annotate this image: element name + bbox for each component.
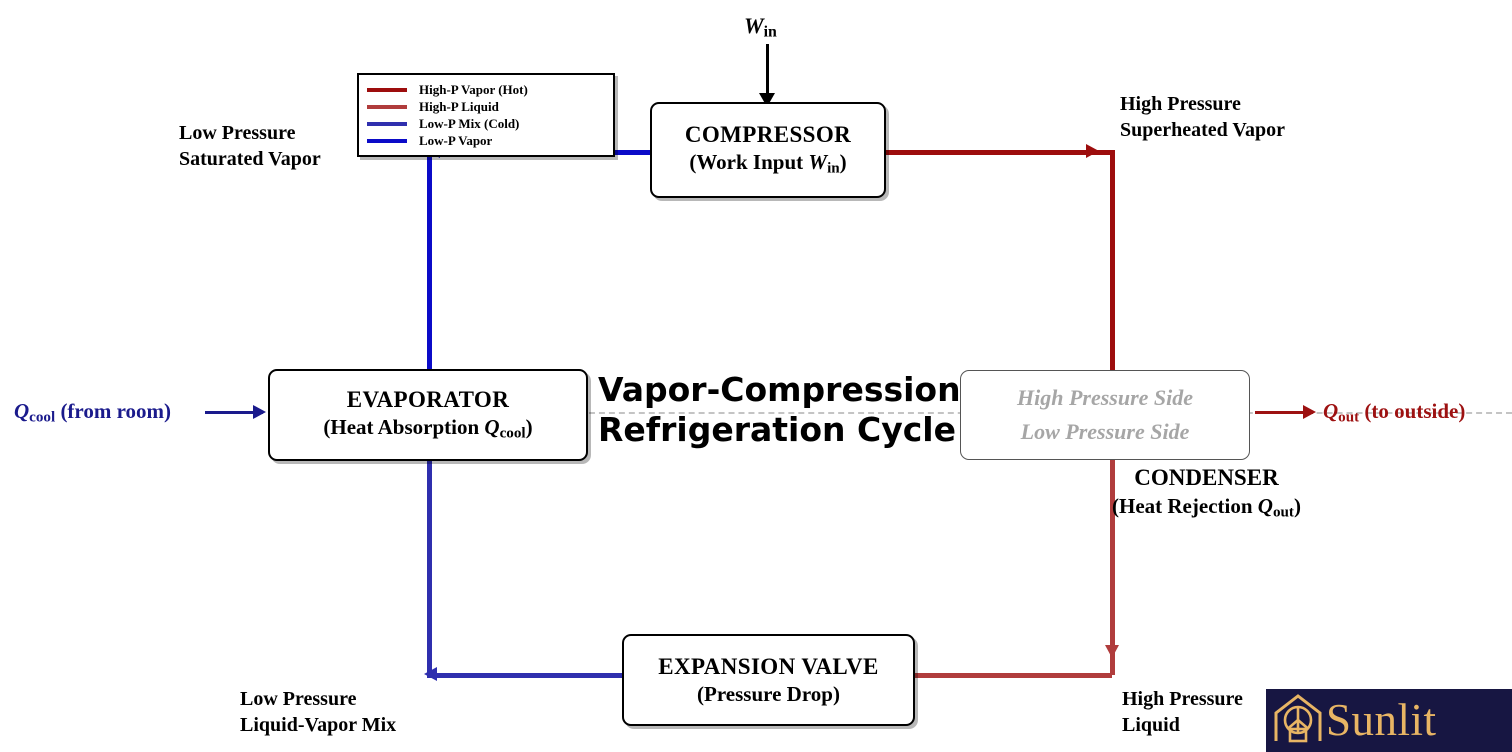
work-input-symbol: W [744,13,764,38]
legend-label-low-p-vapor: Low-P Vapor [419,133,492,149]
legend-item: Low-P Vapor [367,132,603,149]
condenser-sub-suffix: ) [1294,494,1301,518]
page-title-line1: Vapor-Compression [598,370,943,410]
evaporator-subtitle: (Heat Absorption Qcool) [323,415,532,443]
q-cool-note: (from room) [55,399,171,423]
legend-label-high-p-vapor: High-P Vapor (Hot) [419,82,528,98]
q-out-subscript: out [1338,409,1359,425]
compressor-sub-subscript: in [827,160,840,176]
arrowhead-high-pressure-liquid [1105,645,1119,658]
compressor-title: COMPRESSOR [685,122,851,148]
compressor-sub-prefix: (Work Input [689,150,808,174]
condenser-sub-prefix: (Heat Rejection [1112,494,1258,518]
condenser-title: CONDENSER [1112,463,1301,493]
sunlit-logo: Sunlit [1266,689,1512,752]
page-title: Vapor-Compression Refrigeration Cycle [598,370,943,451]
legend-box: High-P Vapor (Hot) High-P Liquid Low-P M… [357,73,615,157]
pipe-evaporator-to-compressor-vertical [427,152,432,370]
expansion-valve-title: EXPANSION VALVE [658,654,879,680]
evaporator-sub-symbol: Q [484,415,499,439]
legend-item: Low-P Mix (Cold) [367,115,603,132]
condenser-sub-symbol: Q [1258,494,1273,518]
expansion-valve-subtitle: (Pressure Drop) [697,682,840,706]
legend-label-high-p-liquid: High-P Liquid [419,99,499,115]
component-box-evaporator[interactable]: EVAPORATOR (Heat Absorption Qcool) [268,369,588,461]
house-peace-icon [1272,693,1324,748]
flow-label-top-left-line1: Low Pressure [179,121,321,147]
work-input-label: Win [744,12,777,43]
arrowhead-low-pressure-mix [424,667,437,681]
flow-label-top-right: High Pressure Superheated Vapor [1120,92,1285,143]
pipe-high-pressure-vapor-horizontal [885,150,1115,155]
evaporator-sub-prefix: (Heat Absorption [323,415,484,439]
flow-label-bottom-left-line2: Liquid-Vapor Mix [240,713,396,739]
arrowhead-high-pressure-vapor [1086,144,1099,158]
work-input-subscript: in [764,23,777,40]
q-cool-symbol: Q [14,399,29,423]
q-cool-subscript: cool [29,409,55,425]
pressure-side-box: High Pressure Side Low Pressure Side [960,370,1250,460]
component-box-compressor[interactable]: COMPRESSOR (Work Input Win) [650,102,886,198]
q-out-symbol: Q [1323,399,1338,423]
legend-swatch-low-p-mix [367,122,407,126]
condenser-label-group: CONDENSER (Heat Rejection Qout) [1112,463,1301,523]
legend-swatch-low-p-vapor [367,139,407,143]
flow-label-bottom-right-line1: High Pressure [1122,687,1243,713]
legend-swatch-high-p-vapor [367,88,407,92]
compressor-subtitle: (Work Input Win) [689,150,846,178]
pipe-high-pressure-liquid-horizontal [915,673,1112,678]
q-out-note: (to outside) [1359,399,1465,423]
flow-label-top-left: Low Pressure Saturated Vapor [179,121,321,172]
flow-label-top-left-line2: Saturated Vapor [179,147,321,173]
flow-label-bottom-left-line1: Low Pressure [240,687,396,713]
flow-label-bottom-left: Low Pressure Liquid-Vapor Mix [240,687,396,738]
pipe-compressor-to-condenser-vertical [1110,150,1115,372]
low-pressure-side-label: Low Pressure Side [1021,415,1190,449]
q-out-label: Qout (to outside) [1323,398,1465,428]
sunlit-logo-text: Sunlit [1326,698,1437,743]
compressor-sub-suffix: ) [840,150,847,174]
flow-label-bottom-right-line2: Liquid [1122,713,1243,739]
condenser-subtitle: (Heat Rejection Qout) [1112,493,1301,523]
evaporator-sub-suffix: ) [526,415,533,439]
evaporator-sub-subscript: cool [500,425,526,441]
legend-swatch-high-p-liquid [367,105,407,109]
page-title-line2: Refrigeration Cycle [598,410,943,450]
flow-label-bottom-right: High Pressure Liquid [1122,687,1243,738]
component-box-expansion-valve[interactable]: EXPANSION VALVE (Pressure Drop) [622,634,915,726]
flow-label-top-right-line2: Superheated Vapor [1120,118,1285,144]
flow-label-top-right-line1: High Pressure [1120,92,1285,118]
arrowhead-q-cool [253,405,266,419]
legend-label-low-p-mix: Low-P Mix (Cold) [419,116,519,132]
legend-item: High-P Liquid [367,98,603,115]
pipe-valve-to-evaporator-vertical [427,460,432,675]
evaporator-title: EVAPORATOR [347,387,509,413]
arrowhead-q-out [1303,405,1316,419]
high-pressure-side-label: High Pressure Side [1017,381,1193,415]
compressor-sub-symbol: W [808,150,827,174]
refrigeration-cycle-diagram: COMPRESSOR (Work Input Win) EVAPORATOR (… [0,0,1512,752]
pipe-low-pressure-mix-horizontal [427,673,622,678]
legend-item: High-P Vapor (Hot) [367,81,603,98]
condenser-sub-subscript: out [1273,504,1294,520]
q-cool-label: Qcool (from room) [14,398,171,428]
